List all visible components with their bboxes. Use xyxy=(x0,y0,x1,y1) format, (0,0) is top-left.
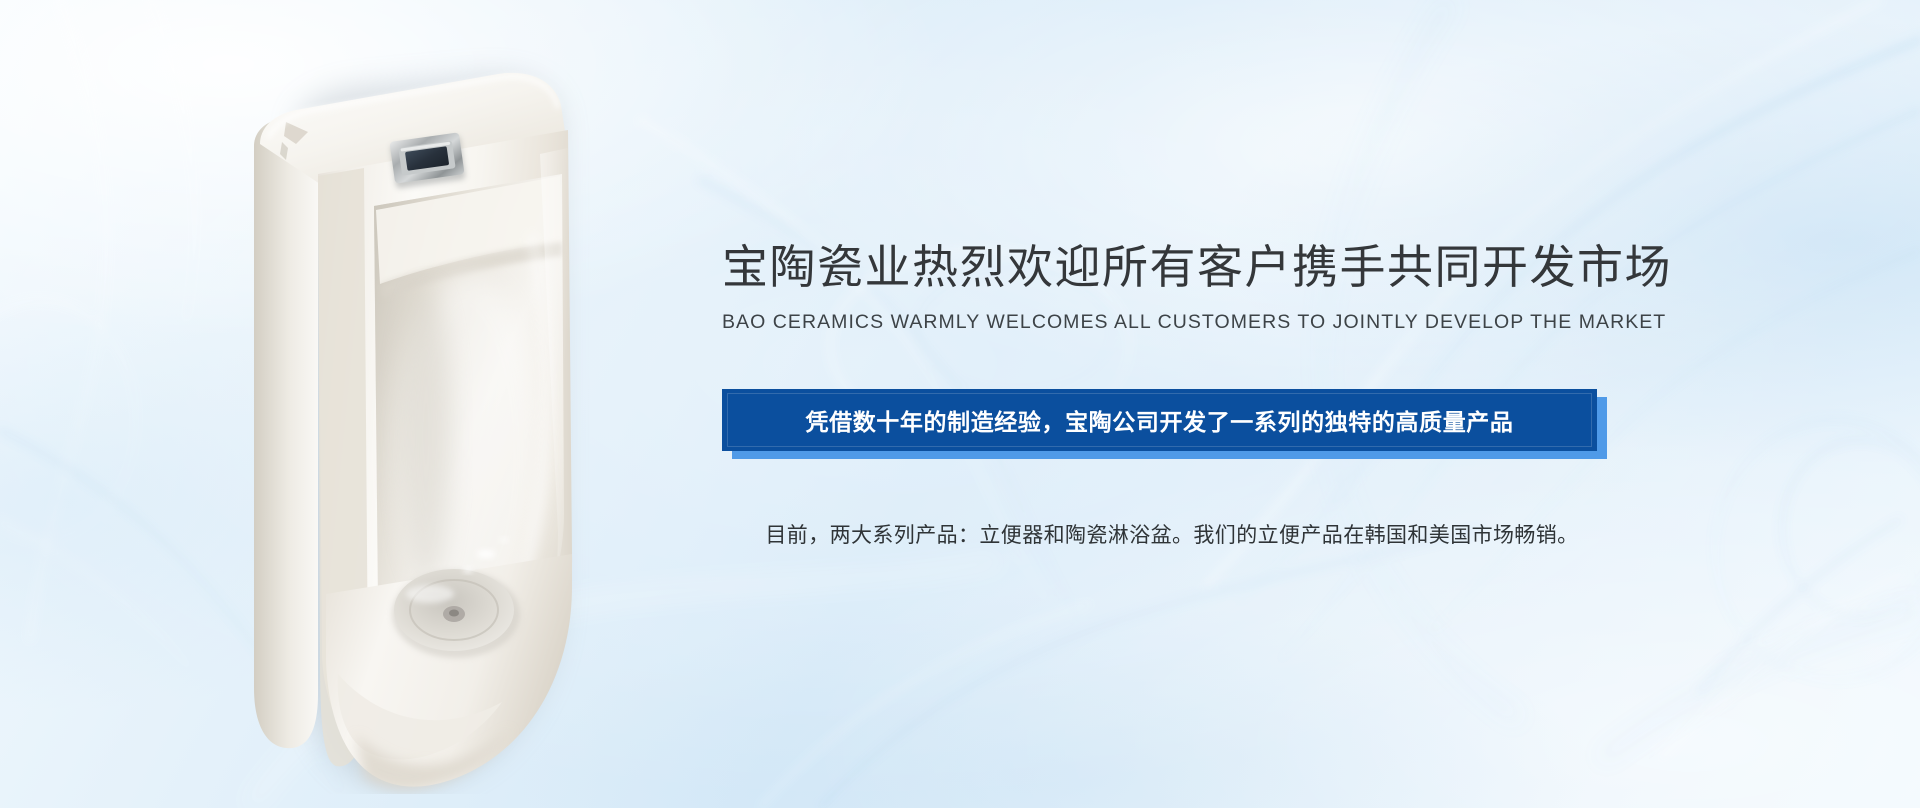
hero-banner: 宝陶瓷业热烈欢迎所有客户携手共同开发市场 BAO CERAMICS WARMLY… xyxy=(0,0,1920,808)
banner-body-copy: 目前，两大系列产品：立便器和陶瓷淋浴盆。我们的立便产品在韩国和美国市场畅销。 xyxy=(722,521,1622,551)
banner-text-content: 宝陶瓷业热烈欢迎所有客户携手共同开发市场 BAO CERAMICS WARMLY… xyxy=(722,240,1622,551)
ribbon-text: 凭借数十年的制造经验，宝陶公司开发了一系列的独特的高质量产品 xyxy=(806,403,1514,437)
ribbon-body: 凭借数十年的制造经验，宝陶公司开发了一系列的独特的高质量产品 xyxy=(722,389,1597,451)
sensor-assembly xyxy=(389,132,465,188)
product-image-urinal xyxy=(168,34,598,794)
banner-headline: 宝陶瓷业热烈欢迎所有客户携手共同开发市场 xyxy=(722,240,1622,294)
banner-subheadline-english: BAO CERAMICS WARMLY WELCOMES ALL CUSTOME… xyxy=(722,311,1622,334)
highlight-ribbon: 凭借数十年的制造经验，宝陶公司开发了一系列的独特的高质量产品 xyxy=(722,389,1597,451)
